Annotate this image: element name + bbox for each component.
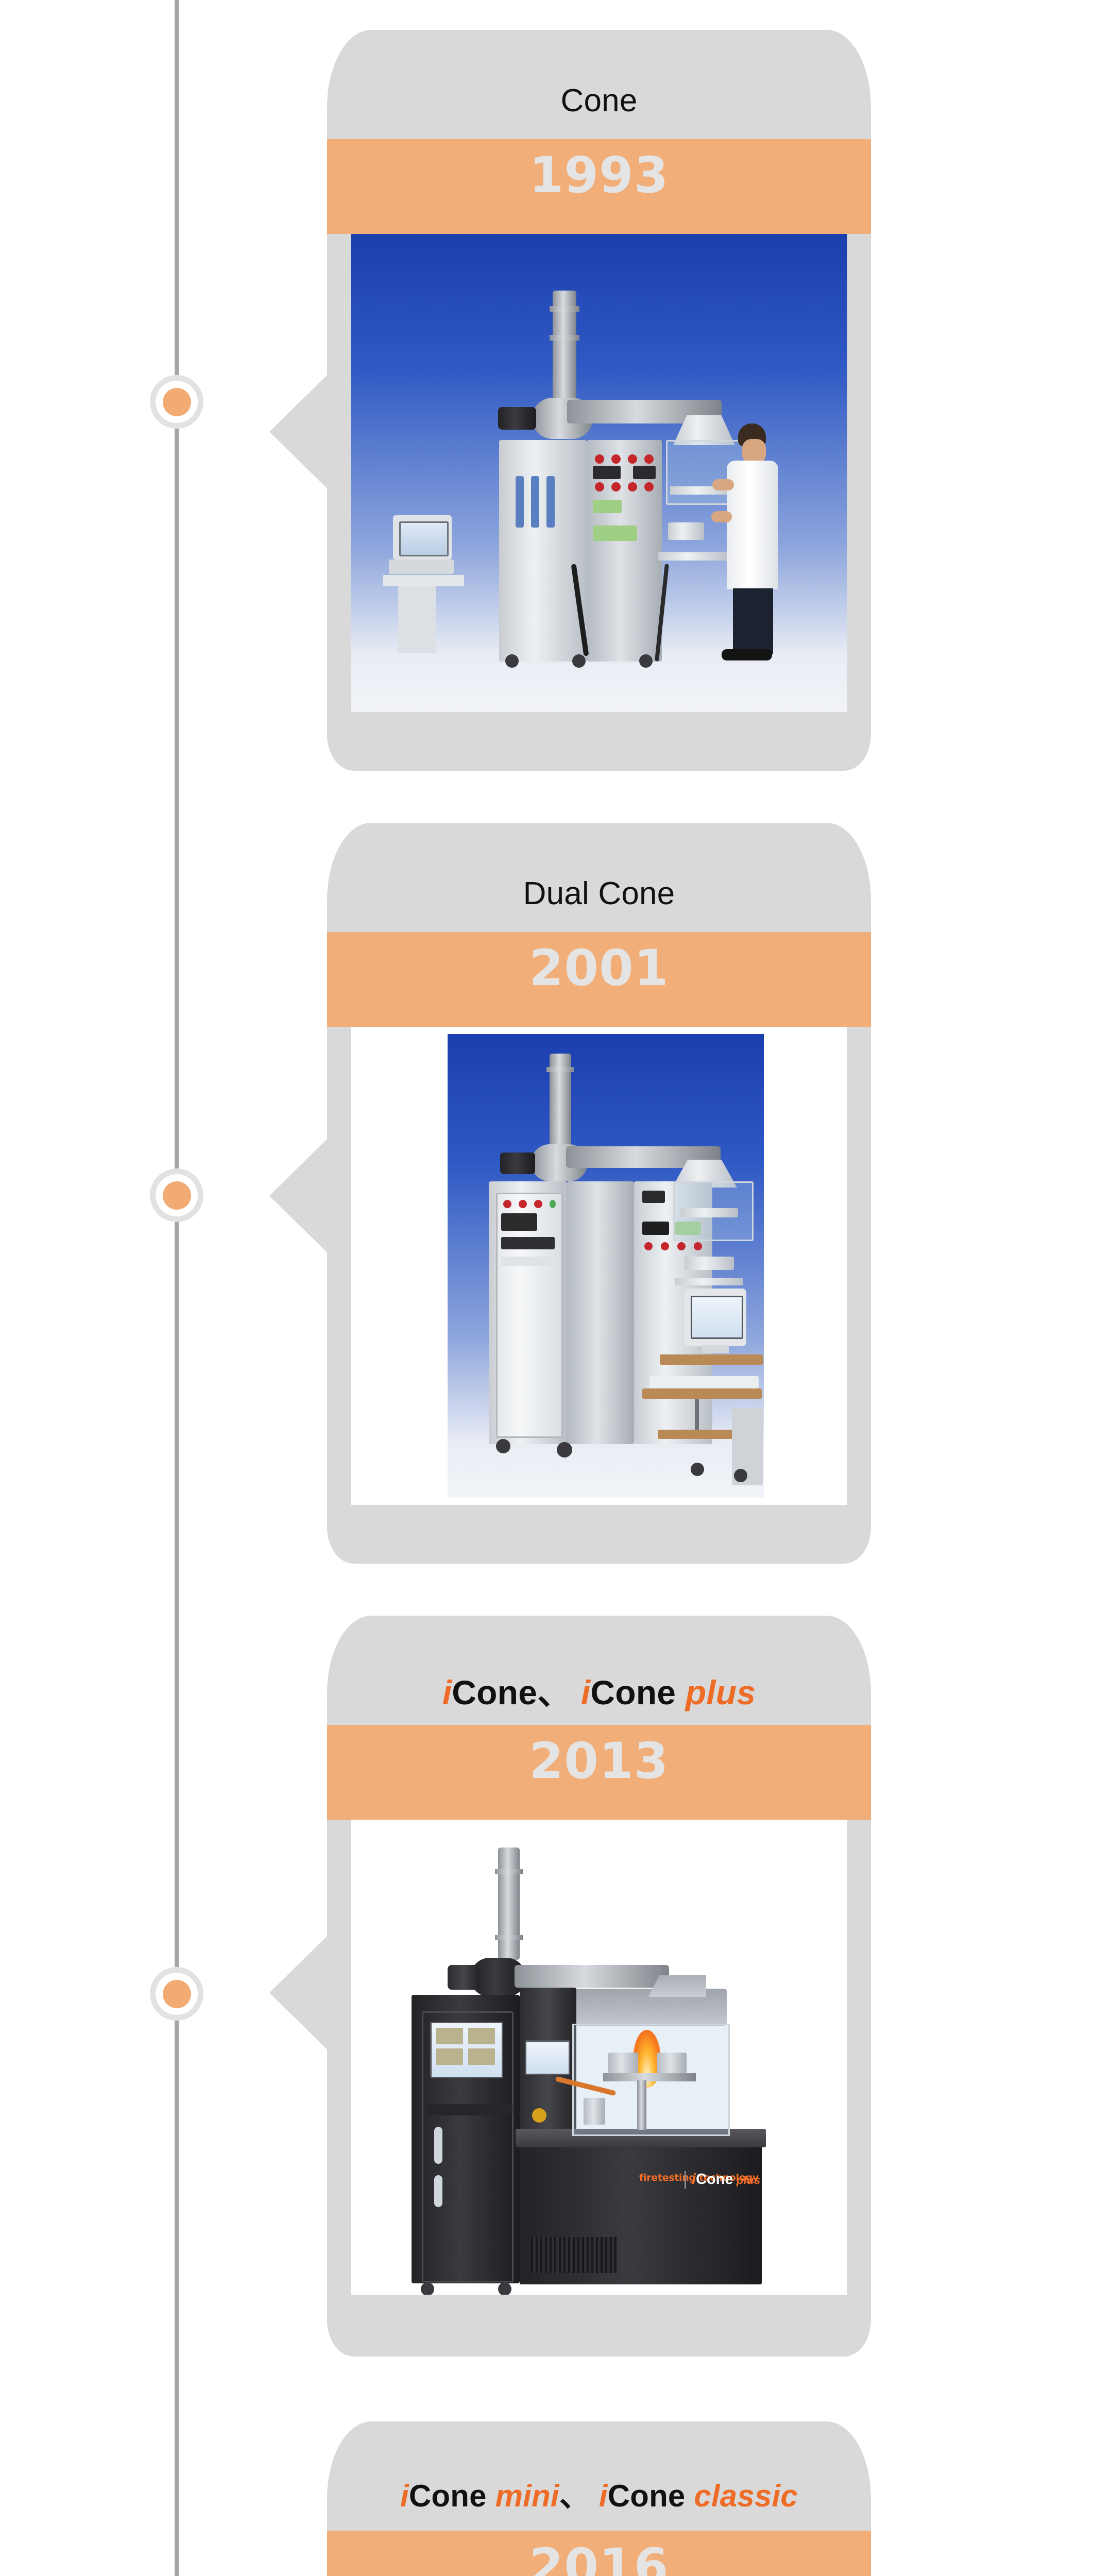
card-title-icone-2013: iCone、 iCone plus: [327, 1616, 871, 1725]
title-part-classic: classic: [686, 2479, 798, 2513]
year-band-2013: 2013: [327, 1725, 871, 1820]
title-part-i: i: [400, 2479, 409, 2513]
year-label: 2001: [529, 939, 669, 997]
card-title-icone-mini-2016: iCone mini、 iCone classic: [327, 2421, 871, 2531]
title-part-cone-2: Cone: [608, 2479, 686, 2513]
timeline-marker-dot: [163, 1980, 191, 2008]
title-part-cone-2: Cone: [590, 1673, 676, 1711]
machine-model-label: iiConeCone plus: [692, 2171, 760, 2188]
title-part-i-2: i: [581, 1673, 591, 1711]
title-part-plus: plus: [676, 1673, 756, 1711]
timeline-marker-2013[interactable]: [150, 1967, 203, 2021]
title-text: Cone: [560, 83, 637, 118]
timeline-card-icone-mini-2016[interactable]: iCone mini、 iCone classic 2016: [327, 2421, 871, 2576]
product-photo-icone-2013: firetesting technology iiConeCone plus: [351, 1820, 847, 2295]
timeline-card-dual-cone-2001[interactable]: Dual Cone 2001: [327, 823, 871, 1564]
year-band-2001: 2001: [327, 932, 871, 1027]
year-band-2016: 2016: [327, 2531, 871, 2576]
timeline-marker-2001[interactable]: [150, 1168, 203, 1222]
timeline-marker-dot: [163, 388, 191, 416]
card-pointer-icon: [269, 1138, 328, 1253]
title-part-i-2: i: [599, 2479, 608, 2513]
year-label: 1993: [529, 146, 669, 204]
timeline-card-icone-2013[interactable]: iCone、 iCone plus 2013: [327, 1616, 871, 2357]
card-pointer-icon: [269, 1935, 328, 2050]
title-space: [590, 2479, 599, 2513]
title-part-cone: Cone: [409, 2479, 487, 2513]
title-part-i: i: [442, 1673, 452, 1711]
title-space: [571, 1673, 581, 1711]
card-title-dual-cone-2001: Dual Cone: [327, 823, 871, 932]
year-label: 2016: [529, 2538, 669, 2576]
title-text: Dual Cone: [523, 876, 675, 911]
product-photo-cone-1993: [351, 234, 847, 712]
title-part-cone: Cone: [452, 1673, 537, 1711]
year-band-1993: 1993: [327, 139, 871, 234]
product-photo-dual-cone-2001: [351, 1027, 847, 1505]
title-separator: 、: [537, 1673, 571, 1711]
year-label: 2013: [529, 1732, 669, 1790]
timeline-marker-dot: [163, 1181, 191, 1210]
timeline-card-cone-1993[interactable]: Cone 1993: [327, 30, 871, 771]
timeline-marker-1993[interactable]: [150, 375, 203, 429]
card-title-cone-1993: Cone: [327, 30, 871, 139]
title-separator: 、: [559, 2479, 590, 2513]
card-pointer-icon: [269, 374, 328, 489]
title-part-mini: mini: [487, 2479, 559, 2513]
